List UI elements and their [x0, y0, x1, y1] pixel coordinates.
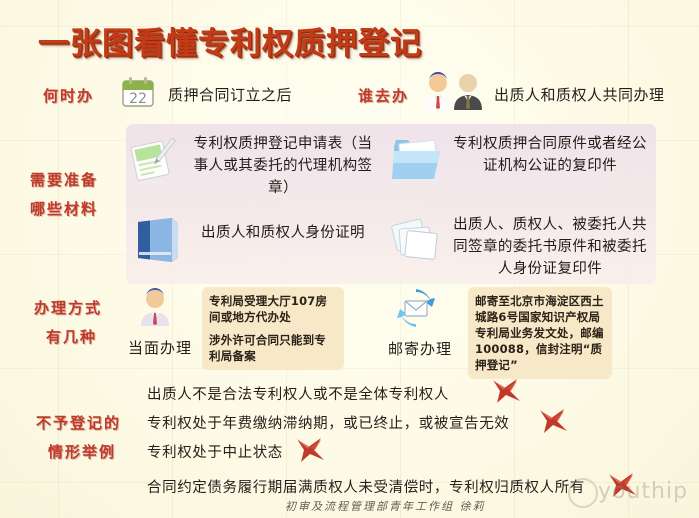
method-label: 邮寄办理: [388, 338, 452, 359]
method-note-line: 专利局受理大厅107房间或地方代办处: [209, 293, 337, 325]
deny-list-item: 合同约定债务履行期届满质权人未受清偿时，专利权归质权人所有: [147, 476, 585, 497]
method-note-box: 专利局受理大厅107房间或地方代办处 涉外许可合同只能到专利局备案: [202, 287, 344, 370]
method-row-label-line2: 有几种: [46, 325, 97, 349]
svg-text:22: 22: [129, 91, 147, 107]
person-icon: [136, 286, 174, 328]
two-people-icon: [420, 70, 490, 112]
materials-row-label-line2: 哪些材料: [30, 197, 98, 221]
material-item-text: 专利权质押合同原件或者经公证机构公证的复印件: [450, 133, 650, 177]
author-signature: 初审及流程管理部青年工作组 徐莉: [285, 498, 486, 514]
deny-list-item: 专利权处于年费缴纳滞纳期，或已终止，或被宣告无效: [147, 412, 509, 433]
red-x-icon: [491, 378, 521, 404]
method-note-line: 邮寄至北京市海淀区西土城路6号国家知识产权局专利局业务发文处，邮编100088，…: [475, 293, 605, 373]
deny-list-item: 出质人不是合法专利权人或不是全体专利权人: [147, 383, 449, 404]
who-row-value: 出质人和质权人共同办理: [494, 84, 665, 107]
blue-book-icon: [132, 214, 184, 266]
material-item-text: 出质人、质权人、被委托人共同签章的委托书原件和被委托人身份证复印件: [450, 214, 650, 280]
deny-row-label-line1: 不予登记的: [36, 411, 121, 435]
material-item-text: 专利权质押登记申请表（当事人或其委托的代理机构签章）: [190, 133, 376, 199]
deny-list-item: 专利权处于中止状态: [147, 441, 283, 462]
method-label: 当面办理: [128, 337, 192, 358]
material-item-text: 出质人和质权人身份证明: [190, 222, 376, 244]
blue-folder-icon: [390, 133, 444, 183]
mail-refresh-icon: [396, 288, 436, 328]
method-note-line: 涉外许可合同只能到专利局备案: [209, 332, 337, 364]
form-pen-icon: [130, 135, 184, 185]
watermark-text: youthip: [598, 479, 688, 504]
materials-row-label-line1: 需要准备: [30, 168, 98, 192]
deny-row-label-line2: 情形举例: [48, 440, 116, 464]
red-x-icon: [295, 437, 325, 463]
watermark-logo-icon: [568, 478, 598, 508]
infographic-poster: 一张图看懂专利权质押登记 何时办 22 质押合同订立之后 谁去办 出质人和质权: [0, 0, 699, 518]
when-row-label: 何时办: [43, 84, 94, 108]
stacked-papers-icon: [390, 216, 444, 264]
when-row-value: 质押合同订立之后: [168, 84, 292, 107]
method-note-box: 邮寄至北京市海淀区西土城路6号国家知识产权局专利局业务发文处，邮编100088，…: [468, 287, 612, 379]
page-title: 一张图看懂专利权质押登记: [38, 18, 422, 63]
red-x-icon: [538, 408, 568, 434]
who-row-label: 谁去办: [358, 84, 409, 108]
calendar-icon: 22: [120, 74, 156, 110]
method-row-label-line1: 办理方式: [34, 296, 102, 320]
